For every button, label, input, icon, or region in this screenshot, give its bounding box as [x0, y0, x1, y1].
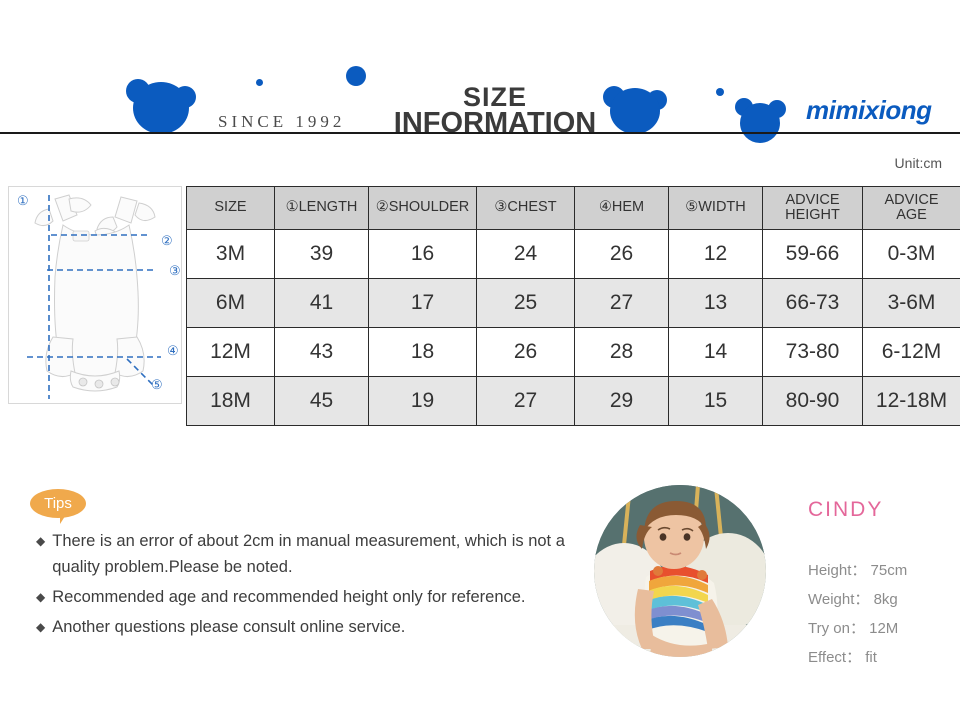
diagram-marker-4: ④: [167, 343, 179, 359]
cell-value: 27: [575, 279, 669, 328]
cell-value: 19: [369, 377, 477, 426]
tips-list: ◆There is an error of about 2cm in manua…: [36, 528, 596, 644]
cell-value: 43: [275, 328, 369, 377]
cell-value: 12: [669, 230, 763, 279]
page-title: SIZE INFORMATION: [380, 84, 610, 138]
bear-head-icon: [610, 88, 660, 134]
brand-logo: mimixiong: [806, 95, 932, 126]
col-header-size: SIZE: [187, 187, 275, 230]
page-header: SINCE 1992 SIZE INFORMATION mimixiong: [0, 0, 960, 140]
tip-item: ◆Recommended age and recommended height …: [36, 584, 596, 610]
diagram-marker-2: ②: [161, 233, 173, 249]
dot-decoration-icon: [346, 66, 366, 86]
tip-text: Recommended age and recommended height o…: [52, 584, 525, 610]
table-body: 3M391624261259-660-3M6M411725271366-733-…: [187, 230, 960, 426]
model-spec-effect: Effect： fit: [808, 643, 958, 672]
tip-item: ◆Another questions please consult online…: [36, 614, 596, 640]
header-divider: [0, 132, 960, 134]
tips-label: Tips: [30, 489, 86, 518]
tip-bullet-icon: ◆: [36, 584, 45, 610]
bear-head-icon: [740, 103, 780, 143]
cell-value: 28: [575, 328, 669, 377]
model-specs: Height： 75cmWeight： 8kgTry on： 12MEffect…: [808, 556, 958, 672]
cell-value: 3-6M: [863, 279, 960, 328]
dot-decoration-icon: [716, 88, 724, 96]
cell-value: 13: [669, 279, 763, 328]
model-spec-try-on: Try on： 12M: [808, 614, 958, 643]
cell-value: 15: [669, 377, 763, 426]
cell-value: 39: [275, 230, 369, 279]
col-header-advice-age: ADVICEAGE: [863, 187, 960, 230]
cell-value: 17: [369, 279, 477, 328]
col-header-line: ③CHEST: [477, 200, 574, 215]
tip-bullet-icon: ◆: [36, 528, 45, 554]
cell-value: 66-73: [763, 279, 863, 328]
cell-value: 25: [477, 279, 575, 328]
diagram-marker-5: ⑤: [151, 377, 163, 393]
col-header-line: HEIGHT: [763, 208, 862, 223]
table-row: 3M391624261259-660-3M: [187, 230, 960, 279]
cell-value: 26: [477, 328, 575, 377]
baby-photo-illustration: [594, 485, 766, 657]
cell-value: 73-80: [763, 328, 863, 377]
size-chart-page: SINCE 1992 SIZE INFORMATION mimixiong Un…: [0, 0, 960, 712]
col-header-line: ④HEM: [575, 200, 668, 215]
col-header-line: ADVICE: [763, 193, 862, 208]
table-header-row: SIZE ①LENGTH ②SHOULDER ③CHEST ④HEM ⑤WIDT…: [187, 187, 960, 230]
tip-item: ◆There is an error of about 2cm in manua…: [36, 528, 596, 580]
cell-size: 18M: [187, 377, 275, 426]
cell-size: 12M: [187, 328, 275, 377]
col-header-hem: ④HEM: [575, 187, 669, 230]
cell-value: 24: [477, 230, 575, 279]
tip-text: Another questions please consult online …: [52, 614, 405, 640]
since-text: SINCE 1992: [218, 112, 345, 132]
col-header-advice-height: ADVICEHEIGHT: [763, 187, 863, 230]
cell-value: 27: [477, 377, 575, 426]
col-header-length: ①LENGTH: [275, 187, 369, 230]
cell-value: 0-3M: [863, 230, 960, 279]
col-header-line: AGE: [863, 208, 960, 223]
cell-value: 59-66: [763, 230, 863, 279]
unit-label: Unit:cm: [895, 155, 942, 171]
garment-diagram: ① ② ③ ④ ⑤: [8, 186, 182, 404]
col-header-shoulder: ②SHOULDER: [369, 187, 477, 230]
cell-value: 12-18M: [863, 377, 960, 426]
cell-value: 45: [275, 377, 369, 426]
cell-value: 29: [575, 377, 669, 426]
model-spec-weight: Weight： 8kg: [808, 585, 958, 614]
col-header-line: SIZE: [187, 200, 274, 215]
size-table: SIZE ①LENGTH ②SHOULDER ③CHEST ④HEM ⑤WIDT…: [186, 186, 960, 426]
cell-value: 16: [369, 230, 477, 279]
cell-value: 18: [369, 328, 477, 377]
diagram-marker-3: ③: [169, 263, 181, 279]
col-header-line: ②SHOULDER: [369, 200, 476, 215]
tip-bullet-icon: ◆: [36, 614, 45, 640]
col-header-line: ADVICE: [863, 193, 960, 208]
model-name: CINDY: [808, 498, 883, 522]
dot-decoration-icon: [256, 79, 263, 86]
col-header-line: ①LENGTH: [275, 200, 368, 215]
model-photo: [594, 485, 766, 657]
cell-value: 26: [575, 230, 669, 279]
table-row: 6M411725271366-733-6M: [187, 279, 960, 328]
diagram-marker-1: ①: [17, 193, 29, 209]
cell-value: 80-90: [763, 377, 863, 426]
table-row: 18M451927291580-9012-18M: [187, 377, 960, 426]
bear-head-icon: [133, 82, 189, 134]
table-row: 12M431826281473-806-12M: [187, 328, 960, 377]
col-header-chest: ③CHEST: [477, 187, 575, 230]
col-header-line: ⑤WIDTH: [669, 200, 762, 215]
model-spec-height: Height： 75cm: [808, 556, 958, 585]
cell-value: 6-12M: [863, 328, 960, 377]
cell-size: 3M: [187, 230, 275, 279]
cell-size: 6M: [187, 279, 275, 328]
romper-illustration: [9, 187, 181, 403]
col-header-width: ⑤WIDTH: [669, 187, 763, 230]
cell-value: 14: [669, 328, 763, 377]
cell-value: 41: [275, 279, 369, 328]
tip-text: There is an error of about 2cm in manual…: [52, 528, 596, 580]
